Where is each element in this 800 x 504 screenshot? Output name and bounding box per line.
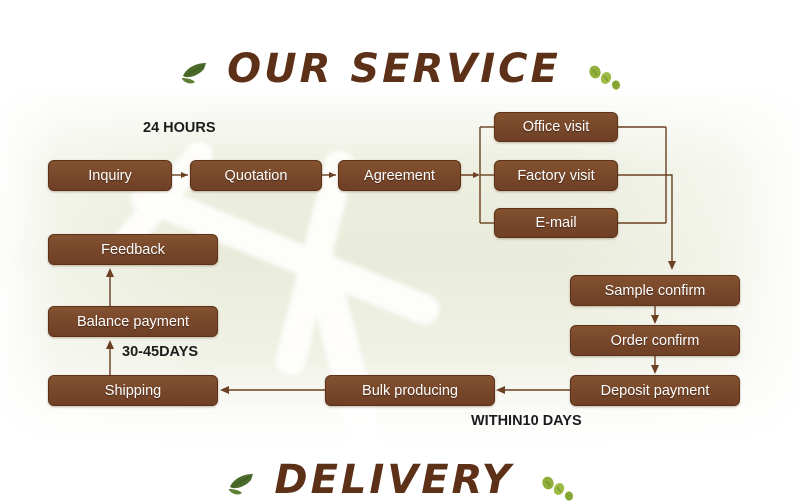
mung-beans-icon bbox=[586, 55, 622, 83]
node-bulk-producing[interactable]: Bulk producing bbox=[325, 375, 495, 406]
node-order-confirm[interactable]: Order confirm bbox=[570, 325, 740, 356]
node-shipping[interactable]: Shipping bbox=[48, 375, 218, 406]
page-title-text: DELIVERY bbox=[274, 457, 513, 503]
label-24-hours: 24 HOURS bbox=[143, 120, 216, 136]
node-sample-confirm[interactable]: Sample confirm bbox=[570, 275, 740, 306]
label-30-45-days: 30-45DAYS bbox=[122, 344, 198, 360]
service-flowchart-banner: OUR SERVICE DELIVERY bbox=[0, 0, 800, 504]
page-title-text: OUR SERVICE bbox=[227, 46, 561, 92]
leaf-icon bbox=[225, 465, 255, 495]
node-feedback[interactable]: Feedback bbox=[48, 234, 218, 265]
node-office-visit[interactable]: Office visit bbox=[494, 112, 618, 142]
page-title-our-service: OUR SERVICE bbox=[0, 44, 800, 92]
label-within-10-days: WITHIN10 DAYS bbox=[471, 413, 582, 429]
node-agreement[interactable]: Agreement bbox=[338, 160, 461, 191]
node-factory-visit[interactable]: Factory visit bbox=[494, 160, 618, 191]
page-title-delivery: DELIVERY bbox=[0, 455, 800, 503]
node-balance-payment[interactable]: Balance payment bbox=[48, 306, 218, 337]
node-e-mail[interactable]: E-mail bbox=[494, 208, 618, 238]
leaf-icon bbox=[178, 54, 208, 84]
node-quotation[interactable]: Quotation bbox=[190, 160, 322, 191]
mung-beans-icon bbox=[539, 466, 575, 494]
node-deposit-payment[interactable]: Deposit payment bbox=[570, 375, 740, 406]
node-inquiry[interactable]: Inquiry bbox=[48, 160, 172, 191]
